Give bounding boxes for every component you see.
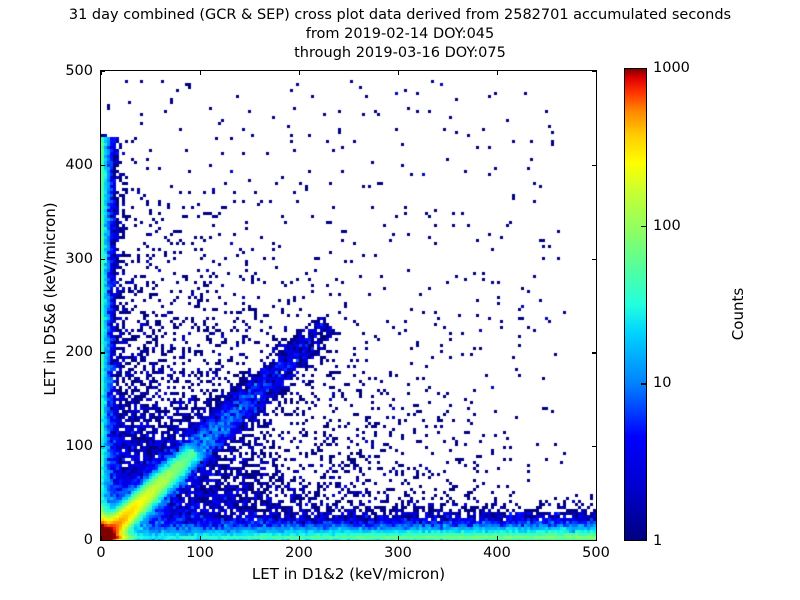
x-tick-label: 400	[483, 545, 511, 561]
plot-axes-frame	[100, 70, 597, 541]
x-tick-mark	[398, 536, 399, 540]
y-tick-mark	[101, 446, 105, 447]
x-tick-mark-top	[497, 71, 498, 75]
y-tick-label: 500	[38, 63, 93, 79]
x-tick-label: 300	[384, 545, 412, 561]
y-tick-label: 0	[38, 532, 93, 548]
colorbar	[624, 68, 647, 541]
x-tick-mark-top	[299, 71, 300, 75]
y-tick-mark-right	[592, 540, 596, 541]
y-tick-mark-right	[592, 352, 596, 353]
y-tick-mark-right	[592, 259, 596, 260]
colorbar-tick-label: 10	[653, 375, 671, 391]
colorbar-gradient	[625, 69, 646, 540]
x-tick-mark	[200, 536, 201, 540]
colorbar-tick-mark	[641, 226, 646, 227]
y-axis-label: LET in D5&6 (keV/micron)	[41, 149, 59, 449]
figure-canvas: 31 day combined (GCR & SEP) cross plot d…	[0, 0, 800, 600]
colorbar-label: Counts	[729, 204, 747, 424]
x-tick-mark-top	[200, 71, 201, 75]
density-scatter-plot	[101, 71, 596, 540]
x-tick-label: 100	[186, 545, 214, 561]
x-tick-mark-top	[398, 71, 399, 75]
x-tick-mark-top	[596, 71, 597, 75]
x-tick-label: 500	[582, 545, 610, 561]
colorbar-tick-label: 1	[653, 533, 662, 549]
title-line-2: from 2019-02-14 DOY:045	[0, 25, 800, 44]
title-line-1: 31 day combined (GCR & SEP) cross plot d…	[0, 6, 800, 25]
x-tick-label: 200	[285, 545, 313, 561]
colorbar-tick-mark	[641, 383, 646, 384]
y-tick-mark	[101, 259, 105, 260]
colorbar-tick-label: 1000	[653, 60, 690, 76]
y-tick-mark-right	[592, 71, 596, 72]
x-tick-mark	[299, 536, 300, 540]
y-tick-mark-right	[592, 446, 596, 447]
plot-title: 31 day combined (GCR & SEP) cross plot d…	[0, 6, 800, 63]
x-tick-mark	[497, 536, 498, 540]
y-tick-mark	[101, 71, 105, 72]
x-tick-label: 0	[96, 545, 105, 561]
x-tick-mark	[596, 536, 597, 540]
y-tick-mark-right	[592, 165, 596, 166]
x-axis-label: LET in D1&2 (keV/micron)	[100, 565, 597, 583]
y-tick-mark	[101, 540, 105, 541]
colorbar-tick-label: 100	[653, 218, 681, 234]
y-tick-mark	[101, 352, 105, 353]
y-tick-mark	[101, 165, 105, 166]
